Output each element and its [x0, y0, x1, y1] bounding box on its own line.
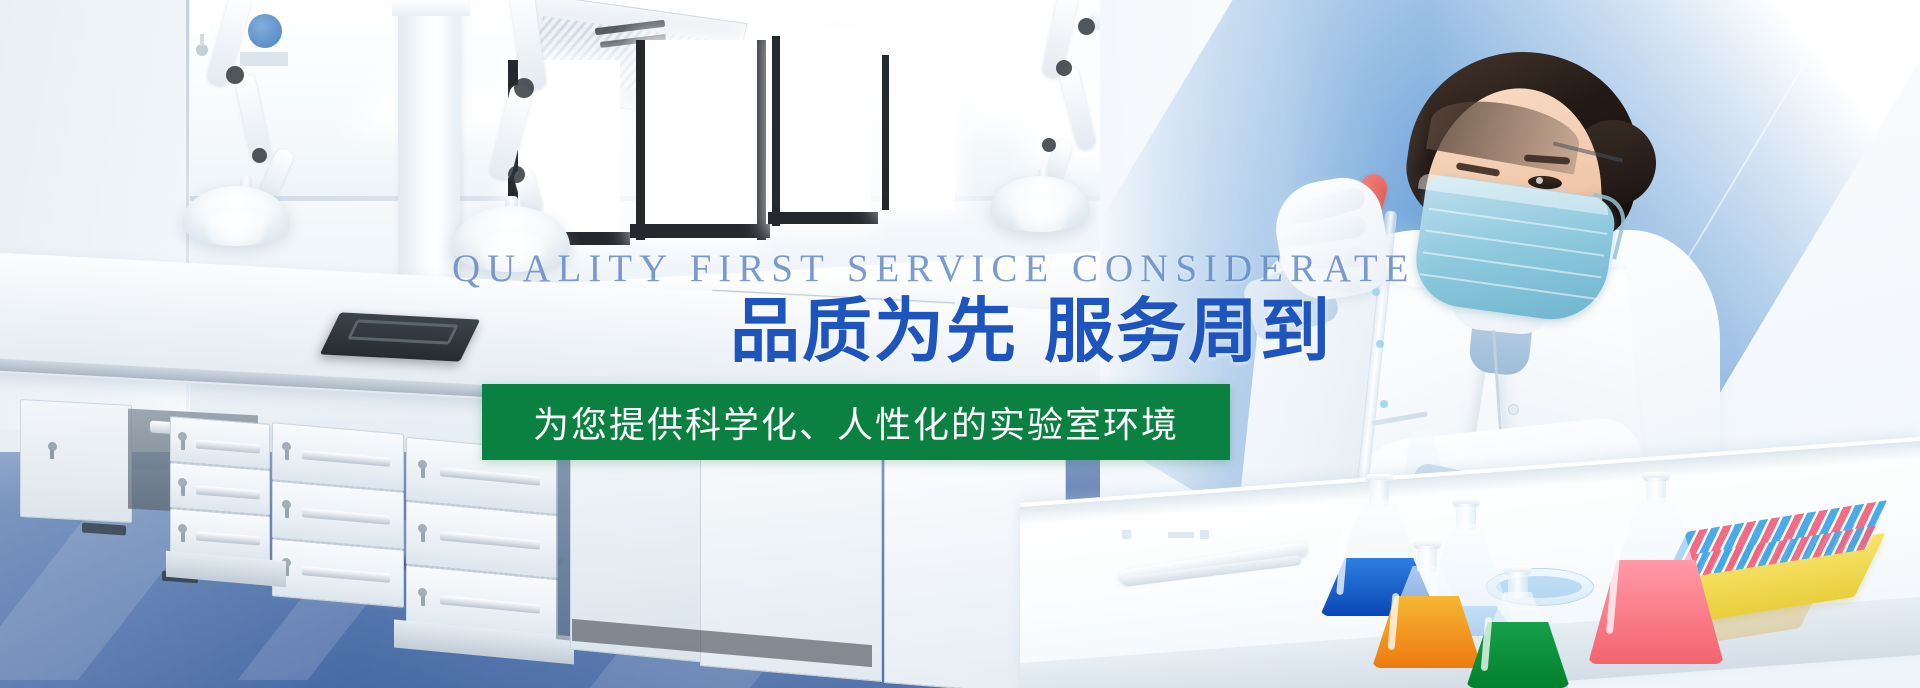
- subtitle-green-bar: 为您提供科学化、人性化的实验室环境: [482, 384, 1230, 460]
- headline: 品质为先服务周到: [730, 296, 1332, 366]
- lab-hero-banner: QUALITY FIRST SERVICE CONSIDERATE 品质为先服务…: [0, 0, 1920, 688]
- headline-part-2: 服务周到: [1044, 290, 1332, 372]
- headline-part-1: 品质为先: [730, 290, 1018, 372]
- english-tagline: QUALITY FIRST SERVICE CONSIDERATE: [452, 246, 1416, 291]
- text-overlay: QUALITY FIRST SERVICE CONSIDERATE 品质为先服务…: [0, 0, 1920, 688]
- subtitle-text: 为您提供科学化、人性化的实验室环境: [533, 396, 1179, 448]
